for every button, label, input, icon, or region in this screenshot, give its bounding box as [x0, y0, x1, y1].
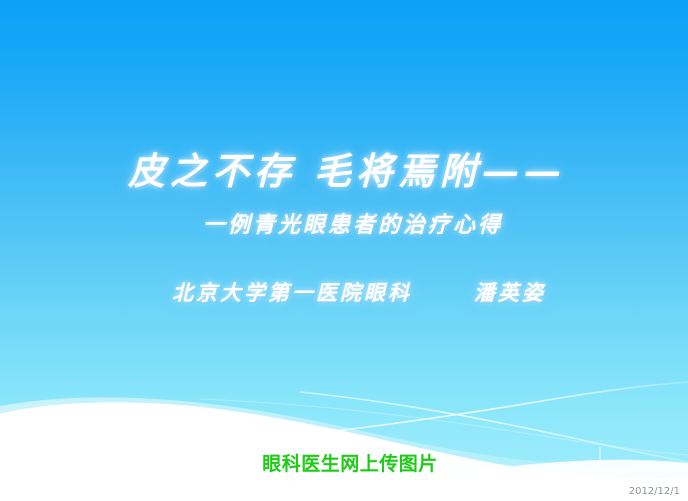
date-stamp: 2012/12/1: [629, 486, 680, 497]
title-text-block: 皮之不存 毛将焉附—— 一例青光眼患者的治疗心得 北京大学第一医院眼科 潘英姿: [0, 150, 688, 307]
page-subtitle: 一例青光眼患者的治疗心得: [0, 207, 688, 239]
page-title: 皮之不存 毛将焉附——: [0, 150, 688, 194]
slide-canvas: 皮之不存 毛将焉附—— 一例青光眼患者的治疗心得 北京大学第一医院眼科 潘英姿 …: [0, 0, 688, 501]
watermark-text: 眼科医生网上传图片: [0, 449, 688, 476]
author-affiliation-line: 北京大学第一医院眼科 潘英姿: [0, 277, 688, 307]
